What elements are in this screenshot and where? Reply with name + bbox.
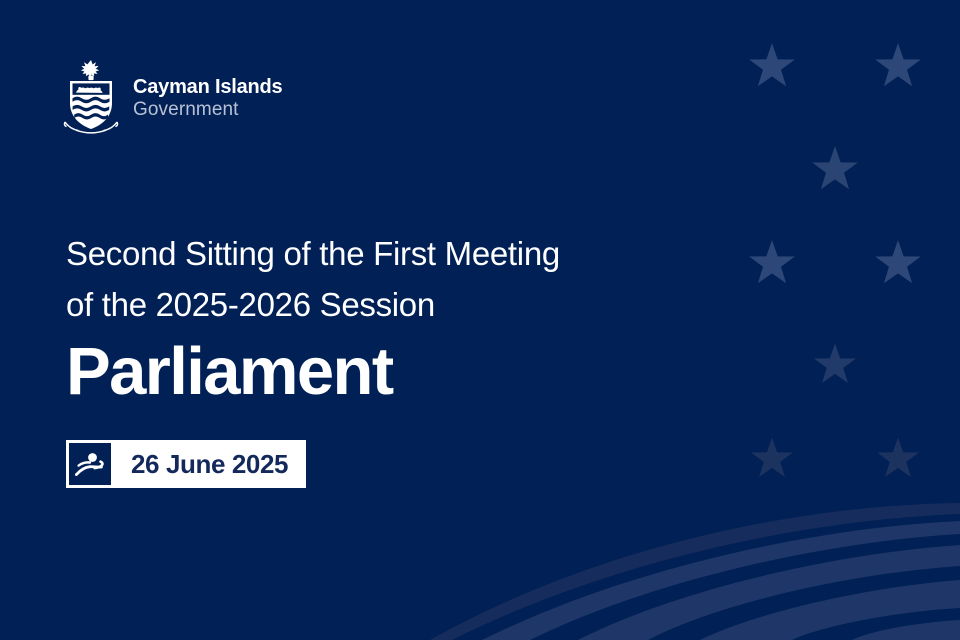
star-icon — [751, 437, 793, 477]
page-title: Parliament — [66, 333, 706, 411]
star-field — [749, 43, 921, 477]
star-icon — [877, 437, 919, 477]
cayman-islands-coat-of-arms-icon — [62, 58, 120, 138]
star-icon — [749, 240, 795, 283]
curved-band-group — [430, 503, 960, 640]
logo-wordmark: Cayman Islands Government — [133, 77, 283, 119]
logo-line-1: Cayman Islands — [133, 77, 283, 97]
government-logo-lockup[interactable]: Cayman Islands Government — [62, 58, 283, 138]
star-icon — [875, 43, 921, 86]
promo-banner: Cayman Islands Government Second Sitting… — [0, 0, 960, 640]
date-badge: 26 June 2025 — [66, 440, 306, 488]
date-badge-label: 26 June 2025 — [114, 440, 306, 488]
star-icon — [875, 240, 921, 283]
star-icon — [814, 343, 856, 383]
eyebrow-line-1: Second Sitting of the First Meeting — [66, 228, 706, 279]
star-icon — [812, 146, 858, 189]
star-icon — [749, 43, 795, 86]
hand-holding-person-icon — [66, 440, 114, 488]
headline-block: Second Sitting of the First Meeting of t… — [66, 228, 706, 411]
logo-line-2: Government — [133, 100, 283, 119]
eyebrow-line-2: of the 2025-2026 Session — [66, 279, 706, 330]
